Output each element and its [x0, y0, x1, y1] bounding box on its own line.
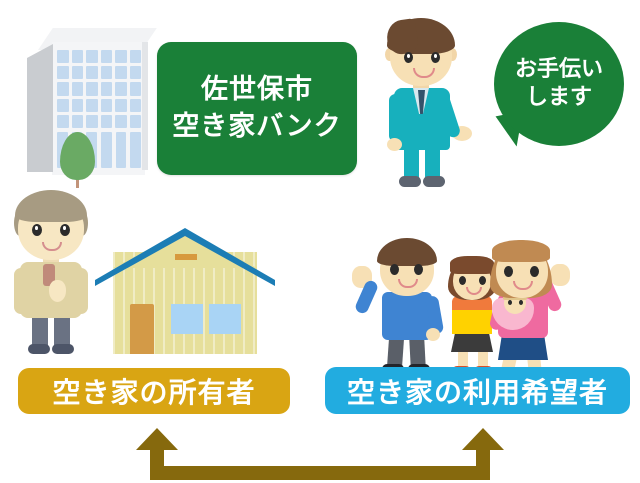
girl-right-eye — [479, 276, 486, 285]
arrow-path — [136, 428, 504, 480]
house-gable-vent — [175, 254, 197, 260]
owner-left-arm — [14, 268, 28, 314]
house-door — [130, 304, 154, 354]
owner-label: 空き家の所有者 — [18, 368, 290, 414]
building-window-grid — [57, 50, 141, 128]
matching-arrow-shape — [130, 428, 510, 480]
house-window-right — [209, 304, 241, 334]
illustration-canvas: 佐世保市 空き家バンク お手伝い します — [0, 0, 640, 483]
city-staff-person — [368, 18, 476, 190]
staff-left-eye — [404, 52, 413, 63]
vacant-house-bank-sign: 佐世保市 空き家バンク — [157, 42, 357, 175]
owner-left-eye — [32, 224, 42, 236]
father-jacket — [382, 292, 432, 340]
staff-right-shoe — [423, 176, 445, 187]
mother-waving-hand — [550, 264, 570, 286]
girl-shirt — [452, 310, 492, 334]
father-right-eye — [414, 264, 423, 275]
staff-left-shoe — [399, 176, 421, 187]
two-way-matching-arrow — [130, 428, 510, 480]
staff-speech-bubble: お手伝い します — [494, 22, 624, 146]
mother-bangs — [492, 240, 550, 262]
bubble-line-1: お手伝い — [515, 56, 603, 84]
girl-skirt — [451, 332, 493, 352]
sign-line-2: 空き家バンク — [172, 109, 341, 145]
building-right-edge — [142, 42, 148, 170]
mother-left-eye — [504, 266, 513, 277]
father-left-eye — [390, 264, 399, 275]
owner-right-shoe — [52, 344, 74, 354]
baby-right-eye — [519, 300, 523, 305]
baby-left-eye — [508, 300, 512, 305]
staff-left-hand — [387, 138, 402, 151]
owner-hair — [15, 190, 87, 222]
elderly-house-owner — [2, 188, 104, 360]
girl-bangs — [450, 256, 494, 274]
owner-left-shoe — [28, 344, 50, 354]
owner-right-arm — [74, 268, 88, 314]
building-side-wall — [27, 44, 53, 172]
mother-right-eye — [530, 266, 539, 277]
house-window-left — [171, 304, 203, 334]
sign-line-1: 佐世保市 — [201, 72, 313, 108]
father-hair — [377, 238, 437, 266]
seeker-label-text: 空き家の利用希望者 — [347, 371, 608, 411]
staff-right-eye — [431, 52, 440, 63]
vacant-house — [95, 228, 275, 356]
city-hall-building — [24, 28, 154, 188]
prospective-user-family — [352, 240, 574, 362]
seeker-label: 空き家の利用希望者 — [325, 367, 630, 414]
owner-label-text: 空き家の所有者 — [52, 371, 255, 411]
father-lowered-hand — [426, 328, 440, 341]
owner-right-eye — [60, 224, 70, 236]
owner-hand — [49, 280, 66, 302]
staff-left-arm — [389, 94, 402, 142]
girl-left-eye — [459, 276, 466, 285]
bubble-line-2: します — [526, 84, 592, 112]
